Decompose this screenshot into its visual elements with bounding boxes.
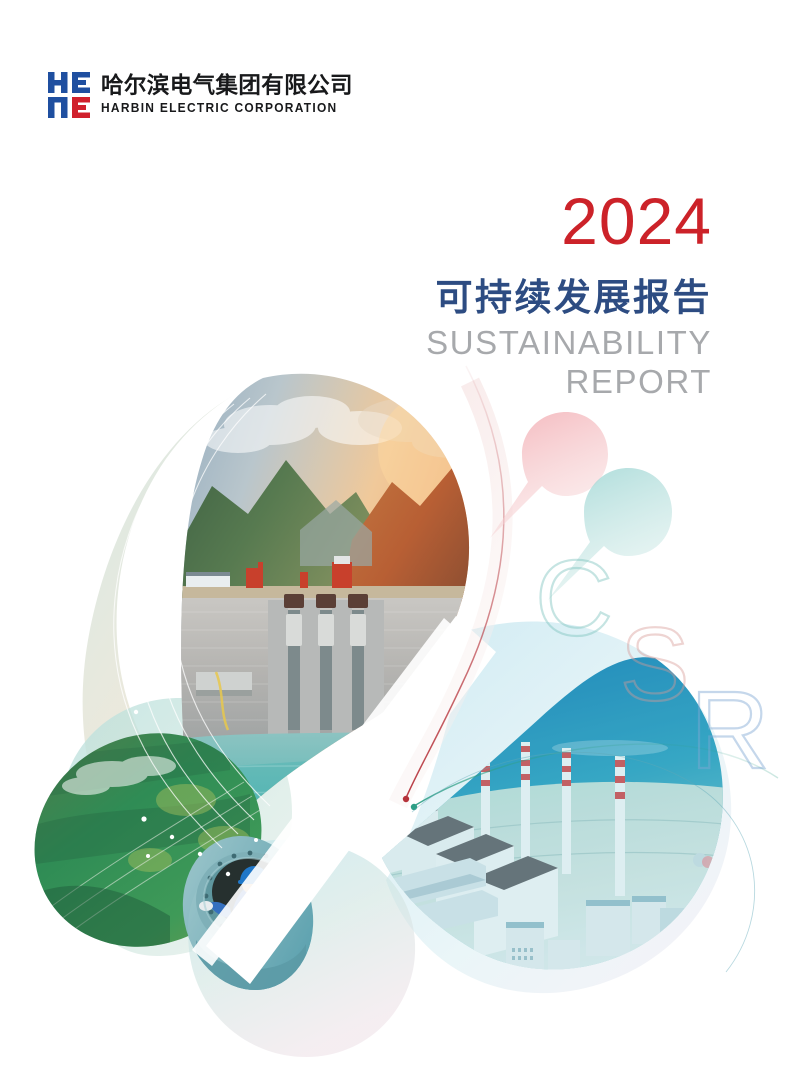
report-year: 2024 <box>426 188 712 254</box>
report-title-cn: 可持续发展报告 <box>426 278 712 318</box>
report-title-en-line1: SUSTAINABILITY <box>426 325 712 362</box>
harbin-electric-logo-mark <box>48 72 90 118</box>
company-logo: 哈尔滨电气集团有限公司 HARBIN ELECTRIC CORPORATION <box>48 72 353 118</box>
company-name-cn: 哈尔滨电气集团有限公司 <box>101 75 353 98</box>
report-cover-page: 哈尔滨电气集团有限公司 HARBIN ELECTRIC CORPORATION … <box>0 0 790 1073</box>
company-name-en: HARBIN ELECTRIC CORPORATION <box>101 102 340 115</box>
cover-title-block: 2024 可持续发展报告 SUSTAINABILITY REPORT <box>426 188 712 402</box>
logo-text-group: 哈尔滨电气集团有限公司 HARBIN ELECTRIC CORPORATION <box>101 75 353 115</box>
arc-endpoint-red <box>403 796 409 802</box>
watermark-letter-r: R <box>690 669 769 792</box>
watermark-letter-s: S <box>620 607 689 723</box>
arc-endpoint-green <box>411 804 417 810</box>
cover-artwork: C S R <box>0 300 790 1073</box>
cover-artwork-svg: C S R <box>0 300 790 1073</box>
watermark-letter-c: C <box>535 537 613 658</box>
report-title-en-line2: REPORT <box>426 362 712 402</box>
